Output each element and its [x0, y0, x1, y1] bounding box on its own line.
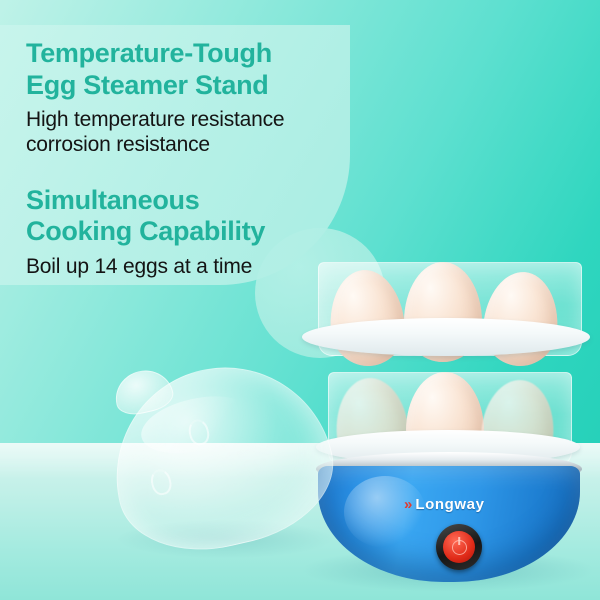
- lid-vent-icon: [148, 467, 173, 497]
- product-marketing-image: Temperature-Tough Egg Steamer Stand High…: [0, 0, 600, 600]
- product-photo: » Longway: [0, 0, 600, 600]
- power-switch-face: [443, 531, 475, 563]
- chevron-icon: »: [404, 497, 410, 512]
- upper-egg-tray: [302, 318, 590, 356]
- power-icon: [452, 540, 467, 555]
- brand-name: Longway: [415, 496, 484, 513]
- brand-logo: » Longway: [404, 496, 485, 513]
- power-switch[interactable]: [436, 524, 482, 570]
